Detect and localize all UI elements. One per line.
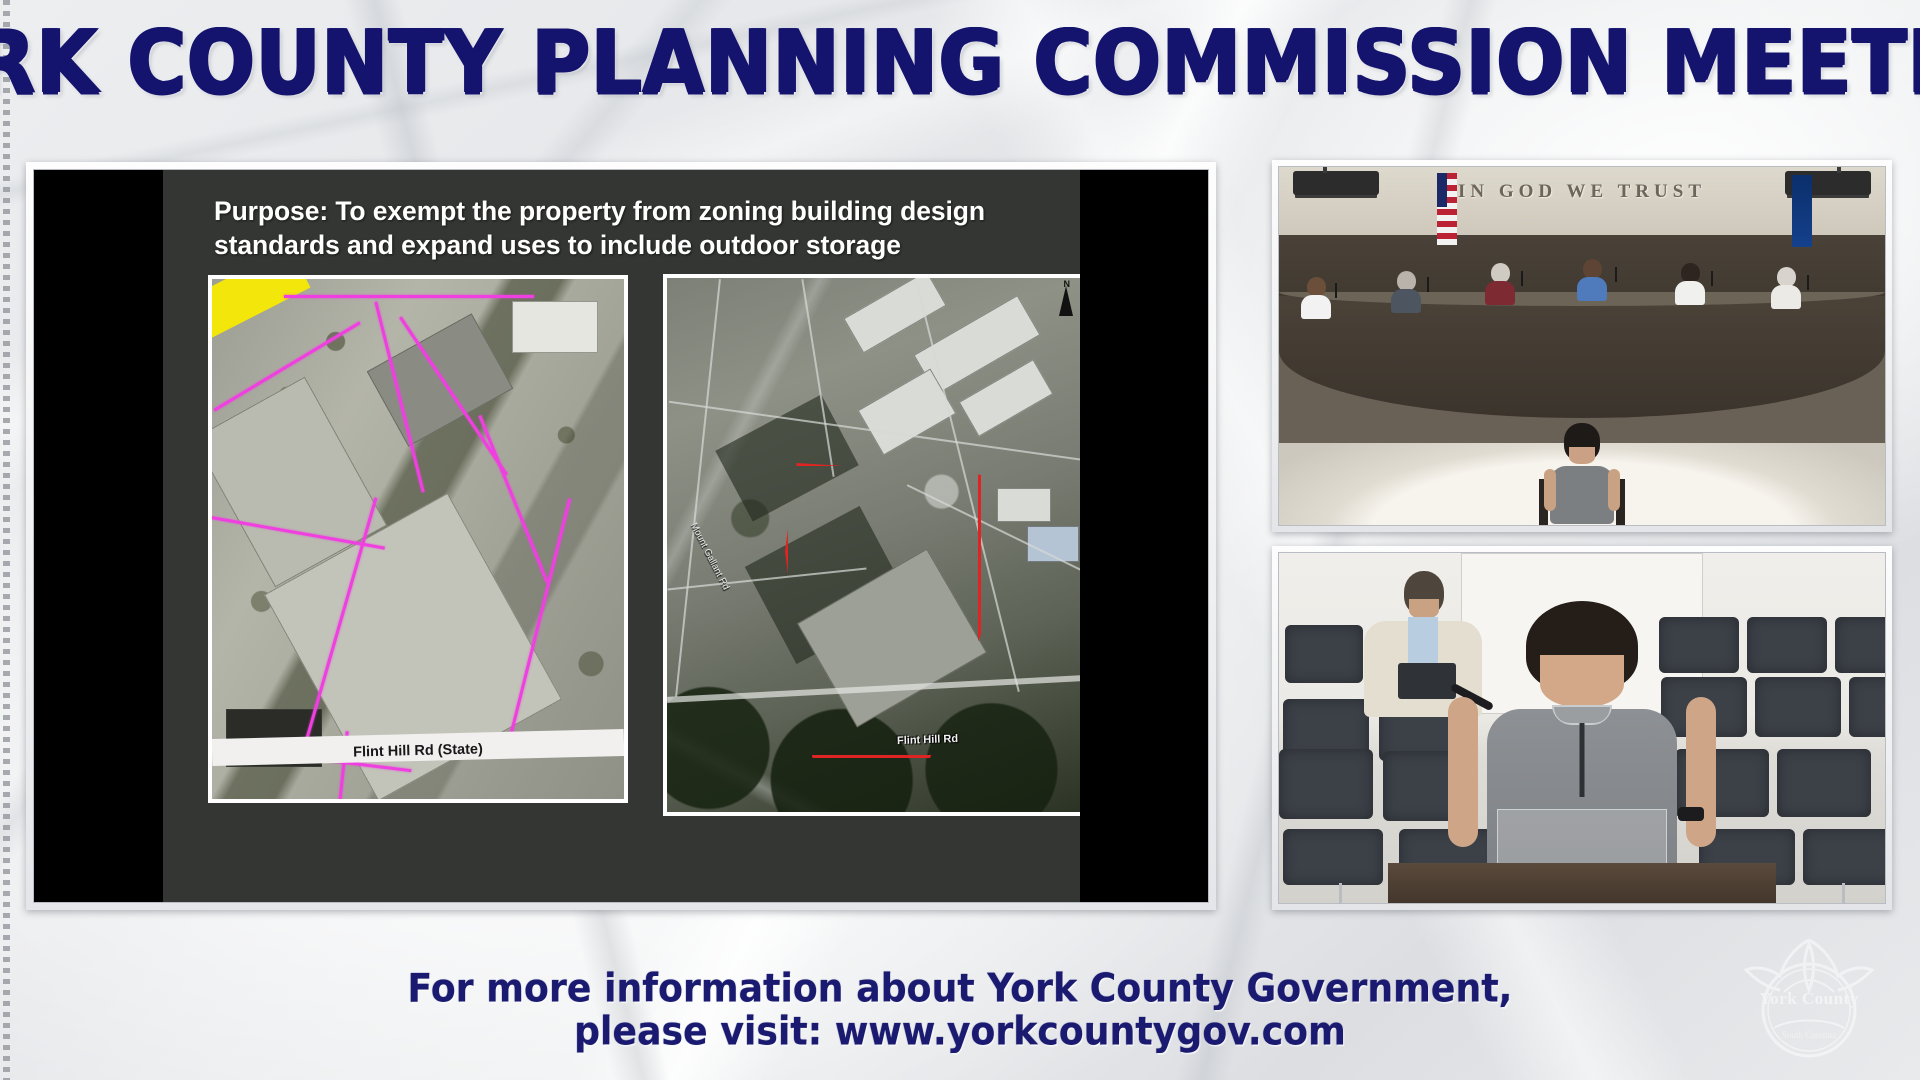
broadcast-title-bar: YORK COUNTY PLANNING COMMISSION MEETING (0, 14, 1920, 110)
audience-chair (1283, 829, 1383, 885)
speaker-torso (1550, 466, 1614, 524)
building-roof (997, 488, 1051, 522)
audience-chair (1285, 625, 1363, 683)
tablet-icon (1398, 663, 1456, 699)
audience-chair (1803, 829, 1886, 885)
attendee-face (1409, 599, 1439, 619)
parcel-detail-map: Flint Hill Rd (State) (208, 275, 628, 803)
podium-close-feed[interactable] (1272, 546, 1892, 910)
map-highlight-corner (212, 279, 310, 337)
page-title: YORK COUNTY PLANNING COMMISSION MEETING (0, 11, 1920, 113)
north-arrow-label: N (1064, 279, 1071, 289)
area-context-map-image: Flint Hill Rd Mount Gallant Rd N (667, 278, 1080, 812)
chair-leg (1339, 883, 1342, 904)
commission-member (1675, 263, 1705, 305)
shirt-placket (1580, 723, 1585, 797)
street-label: Mount Gallant Rd (688, 521, 731, 592)
area-context-map: Flint Hill Rd Mount Gallant Rd N (663, 274, 1080, 816)
podium-desk (1388, 863, 1776, 903)
parcel-boundary-line (284, 295, 534, 298)
audience-chair (1835, 617, 1886, 673)
commission-member (1301, 277, 1331, 319)
slide-canvas: Purpose: To exempt the property from zon… (163, 170, 1080, 902)
footer-line-1: For more information about York County G… (19, 967, 1901, 1012)
audience-chair (1755, 677, 1841, 737)
speaker-arm (1448, 697, 1478, 847)
projector-icon (1293, 171, 1379, 195)
microphone-icon (1807, 275, 1809, 290)
microphone-icon (1521, 271, 1523, 286)
audience-chair (1279, 749, 1373, 819)
podium-close-feed-image (1278, 552, 1886, 904)
speaker-arm (1608, 469, 1620, 511)
north-arrow-icon (1059, 286, 1073, 316)
shirt-collar (1552, 705, 1612, 725)
county-seal-icon: York County South Carolina (1734, 932, 1884, 1068)
audience-chair (1747, 617, 1827, 673)
chamber-wide-feed[interactable]: IN GOD WE TRUST (1272, 160, 1892, 532)
microphone-icon (1615, 267, 1617, 282)
microphone-icon (1335, 283, 1337, 298)
speaker-arm (1686, 697, 1716, 847)
audience-chair (1777, 749, 1871, 817)
presentation-slide-panel: Purpose: To exempt the property from zon… (26, 162, 1216, 910)
chair-leg (1842, 883, 1845, 904)
speaker-face (1569, 447, 1595, 464)
speaker-face (1540, 655, 1624, 707)
council-chamber-scene: IN GOD WE TRUST (1279, 167, 1885, 525)
speaker-arm (1544, 469, 1556, 511)
footer-line-2: please visit: www.yorkcountygov.com (19, 1010, 1901, 1055)
commission-member (1391, 271, 1421, 313)
footer: For more information about York County G… (0, 968, 1920, 1054)
parcel-boundary-line (478, 415, 548, 583)
chamber-wide-feed-image: IN GOD WE TRUST (1278, 166, 1886, 526)
watermark-sub: South Carolina (1734, 1030, 1884, 1040)
audience-chair (1849, 677, 1886, 737)
commission-member (1577, 259, 1607, 301)
subject-parcel-boundary (785, 463, 981, 758)
road-label: Flint Hill Rd (897, 733, 958, 747)
slide-purpose-text: Purpose: To exempt the property from zon… (214, 194, 1054, 262)
watermark-name: York County (1734, 990, 1884, 1008)
road-line (675, 279, 721, 697)
state-flag (1792, 175, 1812, 247)
podium-scene (1279, 553, 1885, 903)
microphone-icon (1711, 271, 1713, 286)
wristwatch-icon (1678, 807, 1704, 821)
commission-member (1485, 263, 1515, 305)
microphone-icon (1427, 277, 1429, 292)
podium-glass-panel (1497, 809, 1667, 867)
film-edge-decoration (3, 0, 10, 1080)
us-flag (1437, 173, 1457, 245)
slide-letterbox: Purpose: To exempt the property from zon… (33, 169, 1209, 903)
commission-member (1771, 267, 1801, 309)
parcel-detail-map-image: Flint Hill Rd (State) (212, 279, 624, 799)
speaker-at-podium (1550, 423, 1614, 523)
building-roof (512, 301, 598, 353)
commission-dais (1279, 296, 1885, 418)
